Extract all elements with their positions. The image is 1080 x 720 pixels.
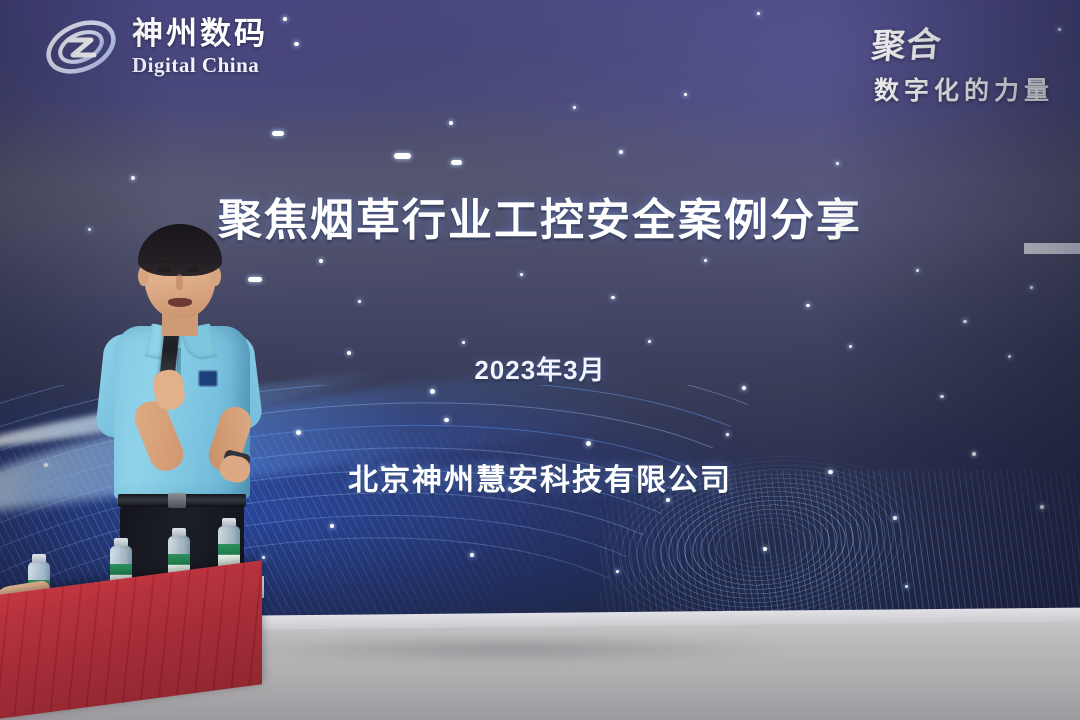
presenter-eye-right [186,267,199,273]
brand-name-en: Digital China [132,55,268,76]
conference-stage-photo: 神州数码 Digital China 聚合 数字化的力量 聚焦烟草行业工控安全案… [0,0,1080,720]
brand-wordmark: 神州数码 Digital China [132,19,268,76]
presenter-belt-buckle [168,493,186,508]
brand-name-cn: 神州数码 [132,19,268,50]
bottle-cap [32,554,46,562]
bottle-cap [172,528,186,536]
bottle-cap [114,538,128,546]
event-tagline: 数字化的力量 [872,71,1054,107]
event-name-calligraphy: 聚合 [870,17,945,68]
digital-china-swirl-logo-icon [42,16,120,78]
presenter-hair [138,224,222,276]
floor-shadow [230,636,790,662]
presenter-nose [176,274,183,290]
brand-logo-digital-china: 神州数码 Digital China [42,16,268,78]
presenter-mouth [168,298,192,307]
event-logo: 聚合 数字化的力量 [872,18,1054,107]
bottle-cap [222,518,236,526]
presenter-shirt-logo-icon [198,370,218,387]
